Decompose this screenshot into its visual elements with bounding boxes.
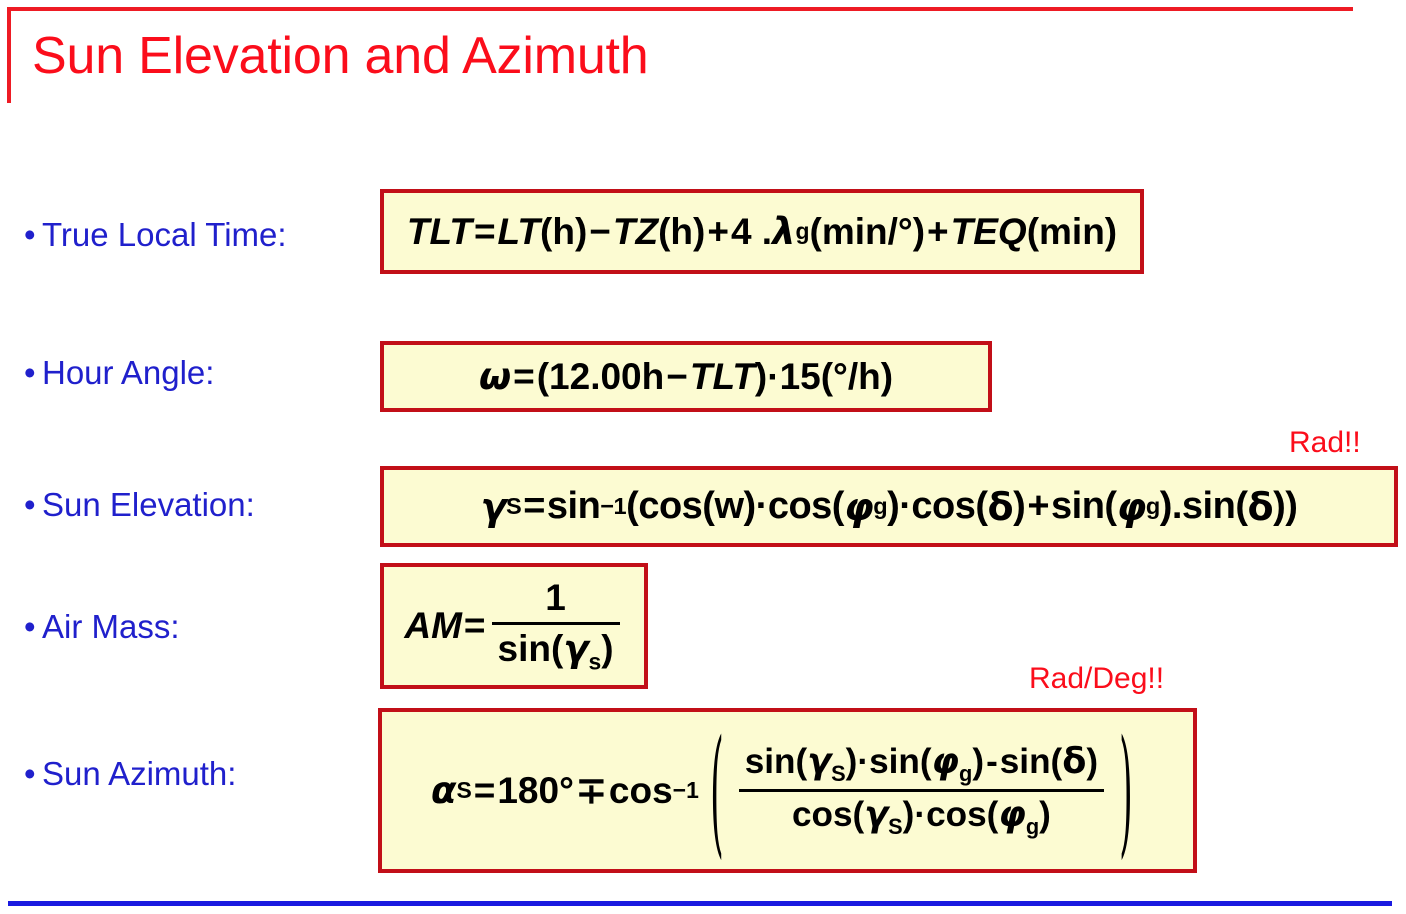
- fraction-sun-azimuth: sin(γS)·sin(φg)-sin(δ) cos(γS)·cos(φg): [739, 742, 1104, 840]
- formula-lhs: TLT: [407, 211, 472, 253]
- paren-close-d1: ): [903, 795, 915, 834]
- subscript-s: S: [506, 493, 521, 520]
- bullet-item-hour-angle: •Hour Angle:: [24, 354, 214, 392]
- term-tz: TZ: [613, 211, 658, 253]
- term-delta-5: δ: [1247, 485, 1273, 529]
- fraction-bar: [739, 789, 1104, 792]
- plus-sign: +: [1025, 485, 1051, 528]
- equals-sign: =: [472, 211, 498, 253]
- minus-sign-num: -: [984, 742, 1000, 781]
- fn-sin-3: sin(: [1000, 742, 1062, 781]
- subscript-s-1: S: [831, 761, 846, 786]
- plus-sign: +: [705, 211, 731, 253]
- formula-box-sun-elevation: γS = sin−1(cos(w)·cos(φg)·cos(δ)+sin(φg)…: [380, 466, 1398, 547]
- bullet-label: Sun Azimuth:: [42, 755, 236, 792]
- bullet-label: Hour Angle:: [42, 354, 214, 391]
- formula-sun-azimuth: αS = 180° ∓ cos−1 ( sin(γS)·sin(φg)-sin(…: [431, 742, 1144, 840]
- factor-15: 15: [780, 356, 821, 398]
- fn-sin-1: sin(: [745, 742, 807, 781]
- bullet-item-air-mass: •Air Mass:: [24, 608, 180, 646]
- formula-lhs-omega: ω: [479, 355, 511, 398]
- paren-close-2: ): [972, 742, 984, 781]
- period-separator: .: [1172, 485, 1182, 528]
- const-12h: 12.00h: [549, 356, 664, 398]
- fn-cos-2: cos(: [926, 795, 998, 834]
- fn-sin: sin(: [498, 628, 564, 669]
- fn-arccos: cos: [609, 770, 673, 812]
- term-tlt: TLT: [690, 356, 755, 398]
- paren-close-3: ): [1086, 742, 1098, 781]
- const-180-deg: 180°: [497, 770, 574, 812]
- equals-sign: =: [462, 605, 488, 647]
- unit-hours-2: (h): [658, 211, 705, 253]
- formula-box-hour-angle: ω = (12.00h−TLT)·15(°/h): [380, 341, 992, 412]
- fn-cos-2: cos(: [768, 485, 844, 528]
- equals-sign: =: [472, 770, 498, 812]
- term-phi-d2: φ: [998, 794, 1026, 835]
- fraction-denominator: cos(γS)·cos(φg): [786, 795, 1057, 839]
- plus-sign-2: +: [925, 211, 951, 253]
- bullet-item-sun-elevation: •Sun Elevation:: [24, 486, 255, 524]
- paren-close: ): [601, 628, 613, 669]
- formula-sun-elevation: γS = sin−1(cos(w)·cos(φg)·cos(δ)+sin(φg)…: [481, 485, 1298, 529]
- multiply-dot-2: ·: [899, 485, 911, 528]
- formula-lhs-am: AM: [404, 605, 462, 647]
- unit-min: (min): [1027, 211, 1117, 253]
- unit-deg-per-hour: (°/h): [821, 356, 893, 398]
- minus-sign: −: [664, 356, 690, 398]
- minus-sign: −: [587, 211, 613, 253]
- exponent-minus-one: −1: [600, 493, 626, 520]
- minus-plus-sign: ∓: [574, 769, 609, 812]
- bullet-label: True Local Time:: [42, 216, 287, 253]
- fraction-bar: [492, 622, 620, 625]
- term-cos-w: cos(w): [638, 485, 755, 528]
- annotation-rad: Rad!!: [1289, 426, 1361, 460]
- fraction-denominator: sin(γs): [492, 628, 620, 675]
- multiply-dot-1: ·: [756, 485, 768, 528]
- fn-sin-2: sin(: [869, 742, 931, 781]
- formula-box-sun-azimuth: αS = 180° ∓ cos−1 ( sin(γS)·sin(φg)-sin(…: [378, 708, 1197, 873]
- term-phi-2: φ: [932, 741, 960, 782]
- subscript-g-d2: g: [1026, 814, 1039, 839]
- term-phi-4: φ: [1117, 485, 1146, 529]
- formula-true-local-time: TLT = LT(h) − TZ(h) + 4 . λg(min/°) + TE…: [407, 210, 1117, 253]
- multiply-dot-den: ·: [914, 795, 926, 834]
- formula-box-air-mass: AM = 1 sin(γs): [380, 563, 648, 689]
- paren-close-4: ): [1160, 485, 1172, 528]
- bullet-marker: •: [24, 354, 42, 392]
- big-paren-open: (: [710, 709, 723, 872]
- bullet-label: Sun Elevation:: [42, 486, 255, 523]
- annotation-rad-deg: Rad/Deg!!: [1029, 662, 1164, 696]
- formula-box-true-local-time: TLT = LT(h) − TZ(h) + 4 . λg(min/°) + TE…: [380, 189, 1144, 274]
- term-gamma-1: γ: [807, 741, 831, 782]
- fraction-numerator: sin(γS)·sin(φg)-sin(δ): [739, 742, 1104, 786]
- term-gamma: γ: [563, 627, 588, 670]
- fn-cos-1: cos(: [792, 795, 864, 834]
- term-phi-2: φ: [844, 485, 873, 529]
- page-title: Sun Elevation and Azimuth: [32, 25, 649, 87]
- subscript-g-4: g: [1146, 493, 1160, 520]
- term-delta-3: δ: [988, 485, 1014, 529]
- subscript-g-2: g: [959, 761, 972, 786]
- paren-close-3: ): [1013, 485, 1025, 528]
- title-left-rule: [7, 7, 11, 103]
- fn-sin-5: sin(: [1182, 485, 1248, 528]
- multiply-dot-num: ·: [857, 742, 869, 781]
- subscript-s: S: [456, 777, 471, 804]
- subscript-g: g: [796, 218, 810, 245]
- term-gamma-d1: γ: [864, 794, 888, 835]
- paren-close: ): [755, 356, 767, 398]
- subscript-s: s: [589, 648, 602, 674]
- bullet-marker: •: [24, 608, 42, 646]
- bullet-label: Air Mass:: [42, 608, 180, 645]
- formula-lhs-gamma: γ: [481, 485, 506, 529]
- paren-open: (: [626, 485, 638, 528]
- bullet-marker: •: [24, 755, 42, 793]
- bullet-item-sun-azimuth: •Sun Azimuth:: [24, 755, 236, 793]
- equals-sign: =: [521, 485, 547, 528]
- footer-rule: [8, 901, 1392, 906]
- paren-close-5: ): [1273, 485, 1285, 528]
- exponent-minus-one: −1: [673, 777, 699, 804]
- bullet-marker: •: [24, 486, 42, 524]
- fn-cos-3: cos(: [911, 485, 987, 528]
- bullet-item-true-local-time: •True Local Time:: [24, 216, 287, 254]
- paren-close-2: ): [887, 485, 899, 528]
- term-lambda: λ: [772, 210, 795, 253]
- term-lt: LT: [498, 211, 540, 253]
- formula-hour-angle: ω = (12.00h−TLT)·15(°/h): [479, 355, 893, 398]
- fraction-numerator: 1: [539, 577, 572, 618]
- term-delta-3: δ: [1062, 741, 1086, 782]
- multiply-dot: ·: [767, 356, 779, 398]
- paren-open: (: [537, 356, 549, 398]
- term-teq: TEQ: [951, 211, 1027, 253]
- unit-min-per-deg: (min/°): [810, 211, 926, 253]
- title-top-rule: [7, 7, 1353, 11]
- equals-sign: =: [511, 356, 537, 398]
- subscript-g-2: g: [873, 493, 887, 520]
- unit-hours: (h): [540, 211, 587, 253]
- paren-close-1: ): [846, 742, 858, 781]
- paren-close-outer: ): [1285, 485, 1297, 528]
- subscript-s-d1: S: [888, 814, 903, 839]
- fn-sin-4: sin(: [1051, 485, 1117, 528]
- big-paren-close: ): [1119, 709, 1132, 872]
- formula-lhs-alpha: α: [431, 769, 456, 812]
- coefficient-4: 4 .: [731, 211, 772, 253]
- formula-air-mass: AM = 1 sin(γs): [404, 577, 623, 675]
- paren-close-d2: ): [1039, 795, 1051, 834]
- fn-arcsin: sin: [547, 485, 600, 528]
- fraction-air-mass: 1 sin(γs): [492, 577, 620, 675]
- bullet-marker: •: [24, 216, 42, 254]
